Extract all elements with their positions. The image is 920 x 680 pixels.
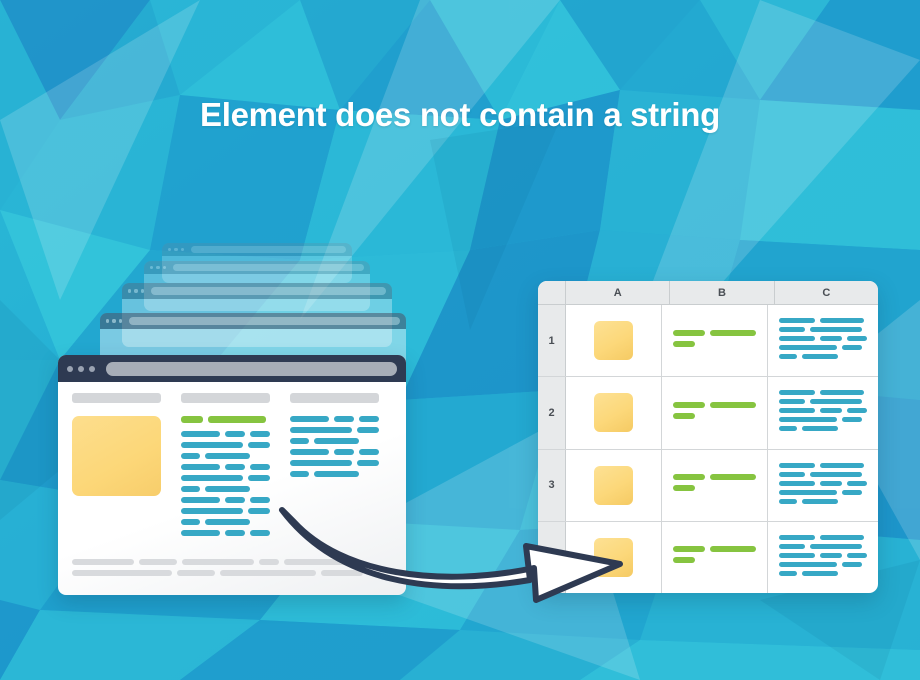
text-bar (225, 530, 245, 536)
cell-column-b[interactable] (662, 377, 768, 448)
text-bar (779, 327, 805, 332)
green-line (673, 485, 756, 491)
spreadsheet-corner-cell[interactable] (538, 281, 566, 304)
text-placeholder-line (290, 460, 379, 466)
footer-bar (182, 559, 254, 565)
text-bar (779, 318, 815, 323)
text-bar (810, 472, 862, 477)
text-bar (359, 416, 379, 422)
text-bar (205, 519, 250, 525)
green-bar (673, 341, 695, 347)
text-bar (205, 486, 250, 492)
green-highlight-row (181, 416, 270, 423)
text-bar (181, 486, 200, 492)
green-bar (673, 557, 695, 563)
ghost-titlebar (162, 243, 352, 256)
text-placeholder-line (290, 449, 379, 455)
text-placeholder-line (290, 427, 379, 433)
text-line (779, 481, 867, 486)
text-line (779, 535, 867, 540)
cell-column-b[interactable] (662, 450, 768, 521)
text-bar (290, 427, 352, 433)
text-placeholder-line (181, 486, 270, 492)
text-bar (779, 408, 815, 413)
content-columns (72, 416, 392, 541)
browser-page-content (58, 382, 406, 595)
green-bar (710, 546, 756, 552)
text-bar (250, 464, 270, 470)
spreadsheet-rows: 123 (538, 305, 878, 593)
ghost-url-bar (129, 317, 400, 325)
column-header-c[interactable]: C (775, 281, 878, 304)
text-line (779, 544, 867, 549)
content-heading-row (72, 393, 392, 403)
ghost-url-bar (191, 246, 346, 254)
text-bar (290, 438, 309, 444)
text-line (779, 562, 867, 567)
footer-bar (321, 570, 363, 576)
cell-content (779, 535, 867, 580)
text-bar (810, 544, 862, 549)
text-bar (802, 499, 838, 504)
illustration-canvas: Element does not contain a string (0, 0, 920, 680)
green-line (673, 546, 756, 552)
text-bar (181, 475, 243, 481)
text-line (779, 327, 867, 332)
text-bar (314, 438, 359, 444)
window-dot-icon (119, 319, 122, 322)
green-bar (181, 416, 203, 423)
text-line (779, 336, 867, 341)
green-bar (673, 402, 705, 408)
text-line (779, 490, 867, 495)
text-bar (779, 463, 815, 468)
text-line (779, 354, 867, 359)
text-bar (820, 390, 864, 395)
text-bar (334, 416, 354, 422)
text-placeholder-line (181, 508, 270, 514)
text-placeholder-line (181, 464, 270, 470)
window-dot-icon (168, 248, 171, 251)
window-dot-icon (174, 248, 177, 251)
yellow-square-block (594, 393, 633, 432)
yellow-square-block (594, 466, 633, 505)
cell-column-b[interactable] (662, 305, 768, 376)
text-bar (181, 519, 200, 525)
green-line (673, 402, 756, 408)
window-close-dot-icon[interactable] (67, 366, 73, 372)
cell-content (673, 474, 756, 496)
cell-column-a[interactable] (566, 450, 662, 521)
text-bar (250, 431, 270, 437)
page-title: Element does not contain a string (0, 96, 920, 134)
text-placeholder-line (181, 497, 270, 503)
ghost-titlebar (144, 261, 370, 274)
cell-content (673, 546, 756, 568)
text-bar (314, 471, 359, 477)
cell-column-c[interactable] (768, 522, 878, 593)
footer-bar (72, 570, 172, 576)
green-bar (673, 474, 705, 480)
text-bar (250, 530, 270, 536)
text-bar (248, 475, 270, 481)
cell-column-b[interactable] (662, 522, 768, 593)
text-bar (820, 553, 842, 558)
text-placeholder-line (181, 530, 270, 536)
text-bar (810, 327, 862, 332)
text-line (779, 390, 867, 395)
content-footer-bars (72, 559, 392, 581)
text-placeholder-line (290, 416, 379, 422)
green-line (673, 341, 756, 347)
row-header-number[interactable]: 1 (538, 305, 566, 376)
green-bar (710, 330, 756, 336)
text-bar (181, 464, 220, 470)
text-placeholder-line (181, 519, 270, 525)
cell-content (673, 402, 756, 424)
text-bar (820, 318, 864, 323)
footer-bar (139, 559, 177, 565)
text-bar (181, 508, 243, 514)
cell-column-a[interactable] (566, 305, 662, 376)
window-dot-icon (156, 266, 159, 269)
text-bar (847, 553, 867, 558)
browser-window-stack (58, 243, 406, 595)
ghost-url-bar (151, 287, 386, 295)
text-bar (842, 417, 862, 422)
text-line (779, 426, 867, 431)
text-bar (357, 460, 379, 466)
column-header-b[interactable]: B (670, 281, 774, 304)
text-bar (225, 431, 245, 437)
text-placeholder-line (181, 442, 270, 448)
text-bar (205, 453, 250, 459)
window-dot-icon (181, 248, 184, 251)
text-line (779, 408, 867, 413)
green-bar (673, 330, 705, 336)
text-line (779, 571, 867, 576)
text-bar (290, 416, 329, 422)
column-header-a[interactable]: A (566, 281, 670, 304)
text-bar (779, 399, 805, 404)
text-placeholder-line (290, 438, 379, 444)
cell-content (779, 318, 867, 363)
footer-bar (72, 559, 134, 565)
text-bar (779, 426, 797, 431)
image-placeholder-block (72, 416, 161, 496)
window-minimize-dot-icon[interactable] (78, 366, 84, 372)
text-bar (779, 345, 837, 350)
window-dot-icon (134, 289, 137, 292)
browser-window[interactable] (58, 355, 406, 595)
text-line (779, 318, 867, 323)
green-bar (673, 485, 695, 491)
window-dot-icon (141, 289, 144, 292)
text-bar (359, 449, 379, 455)
text-line (779, 463, 867, 468)
cell-column-c[interactable] (768, 377, 878, 448)
text-bar (810, 399, 862, 404)
text-bar (290, 449, 329, 455)
green-bar (710, 402, 756, 408)
text-bar (248, 508, 270, 514)
text-bar (334, 449, 354, 455)
window-dot-icon (163, 266, 166, 269)
text-line (779, 472, 867, 477)
text-bar (802, 571, 838, 576)
text-bar (779, 390, 815, 395)
text-bar (820, 408, 842, 413)
text-bar (779, 490, 837, 495)
text-bar (820, 535, 864, 540)
text-bar (248, 442, 270, 448)
spreadsheet-column-header-row: A B C (538, 281, 878, 305)
text-line (779, 399, 867, 404)
text-placeholder-line (181, 475, 270, 481)
cell-content (779, 463, 867, 508)
text-bar (842, 345, 862, 350)
text-placeholder-line (181, 431, 270, 437)
spreadsheet-row[interactable] (538, 522, 878, 593)
green-line (673, 413, 756, 419)
window-dot-icon (150, 266, 153, 269)
cell-column-a[interactable] (566, 522, 662, 593)
yellow-square-block (594, 321, 633, 360)
text-bar (802, 426, 838, 431)
text-bar (779, 472, 805, 477)
row-header-number[interactable] (538, 522, 566, 593)
text-bar (820, 463, 864, 468)
footer-placeholder-row (72, 559, 392, 565)
text-bar (225, 464, 245, 470)
text-bar (250, 497, 270, 503)
cell-column-a[interactable] (566, 377, 662, 448)
window-maximize-dot-icon[interactable] (89, 366, 95, 372)
text-line (779, 553, 867, 558)
window-dot-icon (112, 319, 115, 322)
text-bar (820, 336, 842, 341)
cell-column-c[interactable] (768, 305, 878, 376)
text-bar (779, 354, 797, 359)
text-placeholder-line (290, 471, 379, 477)
footer-bar (177, 570, 215, 576)
green-bar (673, 413, 695, 419)
cell-column-c[interactable] (768, 450, 878, 521)
ghost-url-bar (173, 264, 364, 272)
text-bar (290, 471, 309, 477)
yellow-square-block (594, 538, 633, 577)
text-bar (779, 336, 815, 341)
text-bar (779, 535, 815, 540)
text-bar (357, 427, 379, 433)
text-bar (225, 497, 245, 503)
content-column-image (72, 416, 161, 541)
text-bar (779, 562, 837, 567)
browser-titlebar (58, 355, 406, 382)
text-placeholder-line (181, 453, 270, 459)
text-bar (181, 530, 220, 536)
text-bar (779, 499, 797, 504)
footer-bar (284, 559, 346, 565)
text-bar (181, 431, 220, 437)
text-line (779, 345, 867, 350)
text-line (779, 417, 867, 422)
text-bar (842, 562, 862, 567)
text-bar (779, 544, 805, 549)
browser-url-bar[interactable] (106, 362, 397, 376)
content-column-text-1 (181, 416, 270, 541)
text-line (779, 499, 867, 504)
heading-placeholder-bar (181, 393, 270, 403)
green-line (673, 330, 756, 336)
content-column-text-2 (290, 416, 379, 541)
footer-placeholder-row (72, 570, 392, 576)
text-bar (779, 571, 797, 576)
cell-content (779, 390, 867, 435)
text-bar (181, 453, 200, 459)
text-bar (847, 336, 867, 341)
spreadsheet-row[interactable]: 3 (538, 450, 878, 522)
text-bar (802, 354, 838, 359)
row-header-number[interactable]: 3 (538, 450, 566, 521)
text-bar (181, 497, 220, 503)
footer-bar (259, 559, 279, 565)
spreadsheet-row[interactable]: 1 (538, 305, 878, 377)
green-line (673, 474, 756, 480)
heading-placeholder-bar (290, 393, 379, 403)
text-bar (847, 481, 867, 486)
green-bar (208, 416, 266, 423)
text-bar (779, 417, 837, 422)
ghost-titlebar (122, 283, 392, 299)
text-bar (842, 490, 862, 495)
cell-content (673, 330, 756, 352)
text-bar (779, 553, 815, 558)
window-dot-icon (106, 319, 109, 322)
heading-placeholder-bar (72, 393, 161, 403)
window-dot-icon (128, 289, 131, 292)
spreadsheet-row[interactable]: 2 (538, 377, 878, 449)
green-line (673, 557, 756, 563)
text-bar (847, 408, 867, 413)
row-header-number[interactable]: 2 (538, 377, 566, 448)
ghost-titlebar (100, 313, 406, 329)
text-bar (290, 460, 352, 466)
green-bar (710, 474, 756, 480)
green-bar (673, 546, 705, 552)
text-bar (779, 481, 815, 486)
text-bar (181, 442, 243, 448)
footer-bar (220, 570, 316, 576)
text-bar (820, 481, 842, 486)
spreadsheet-panel[interactable]: A B C 123 (538, 281, 878, 593)
